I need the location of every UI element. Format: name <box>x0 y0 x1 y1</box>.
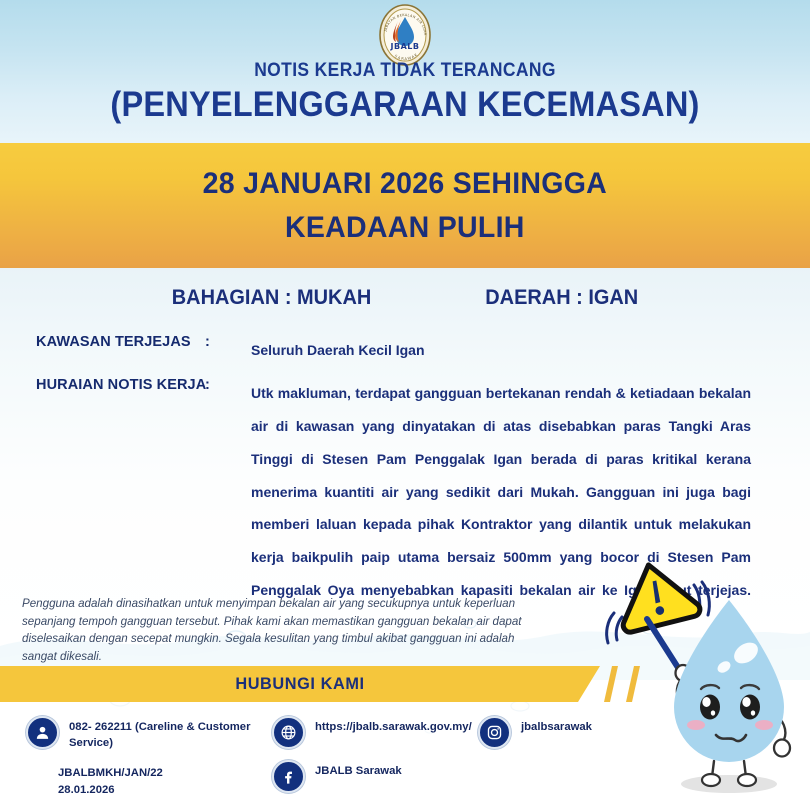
reference-block: JBALBMKH/JAN/22 28.01.2026 <box>58 765 163 799</box>
contact-facebook[interactable]: JBALB Sarawak <box>272 760 502 793</box>
advisory-text: Pengguna adalah dinasihatkan untuk menyi… <box>22 595 542 665</box>
bahagian-label: BAHAGIAN : MUKAH <box>172 286 371 310</box>
water-droplet-mascot <box>598 555 810 805</box>
reference-code: JBALBMKH/JAN/22 <box>58 765 163 782</box>
contact-facebook-text: JBALB Sarawak <box>315 760 402 779</box>
notice-kicker: NOTIS KERJA TIDAK TERANCANG <box>32 60 777 82</box>
facebook-icon <box>272 760 305 793</box>
date-line-1: 28 JANUARI 2026 SEHINGGA <box>203 162 607 206</box>
svg-text:JBALB: JBALB <box>390 42 420 51</box>
contact-website-text: https://jbalb.sarawak.gov.my/ <box>315 716 472 735</box>
instagram-icon <box>478 716 511 749</box>
notice-title: (PENYELENGGARAAN KECEMASAN) <box>28 86 781 125</box>
date-line-2: KEADAAN PULIH <box>203 206 607 250</box>
jbalb-logo: JBALB JABATAN BEKALAN AIR LUAR BANDAR SA… <box>374 4 436 66</box>
person-icon <box>26 716 59 749</box>
contact-instagram-text: jbalbsarawak <box>521 716 592 735</box>
daerah-label: DAERAH : IGAN <box>485 286 638 310</box>
affected-area-row: KAWASAN TERJEJAS : Seluruh Daerah Kecil … <box>0 334 810 367</box>
affected-area-label: KAWASAN TERJEJAS <box>0 334 205 350</box>
notice-description-label: HURAIAN NOTIS KERJA <box>0 377 205 393</box>
date-banner: 28 JANUARI 2026 SEHINGGA KEADAAN PULIH <box>0 143 810 268</box>
region-row: BAHAGIAN : MUKAH DAERAH : IGAN <box>20 286 790 310</box>
notice-description-colon: : <box>205 377 251 393</box>
poster-header: JBALB JABATAN BEKALAN AIR LUAR BANDAR SA… <box>0 0 810 143</box>
contact-phone-text: 082- 262211 (Careline & Customer Service… <box>69 716 256 752</box>
notice-poster: JBALB JABATAN BEKALAN AIR LUAR BANDAR SA… <box>0 0 810 810</box>
reference-date: 28.01.2026 <box>58 782 163 799</box>
contact-banner-title: HUBUNGI KAMI <box>12 666 588 702</box>
affected-area-colon: : <box>205 334 251 350</box>
warning-exclamation-sign <box>610 555 701 633</box>
contact-website[interactable]: https://jbalb.sarawak.gov.my/ <box>272 716 502 749</box>
globe-icon <box>272 716 305 749</box>
contact-phone[interactable]: 082- 262211 (Careline & Customer Service… <box>26 716 256 752</box>
affected-area-value: Seluruh Daerah Kecil Igan <box>251 334 751 367</box>
